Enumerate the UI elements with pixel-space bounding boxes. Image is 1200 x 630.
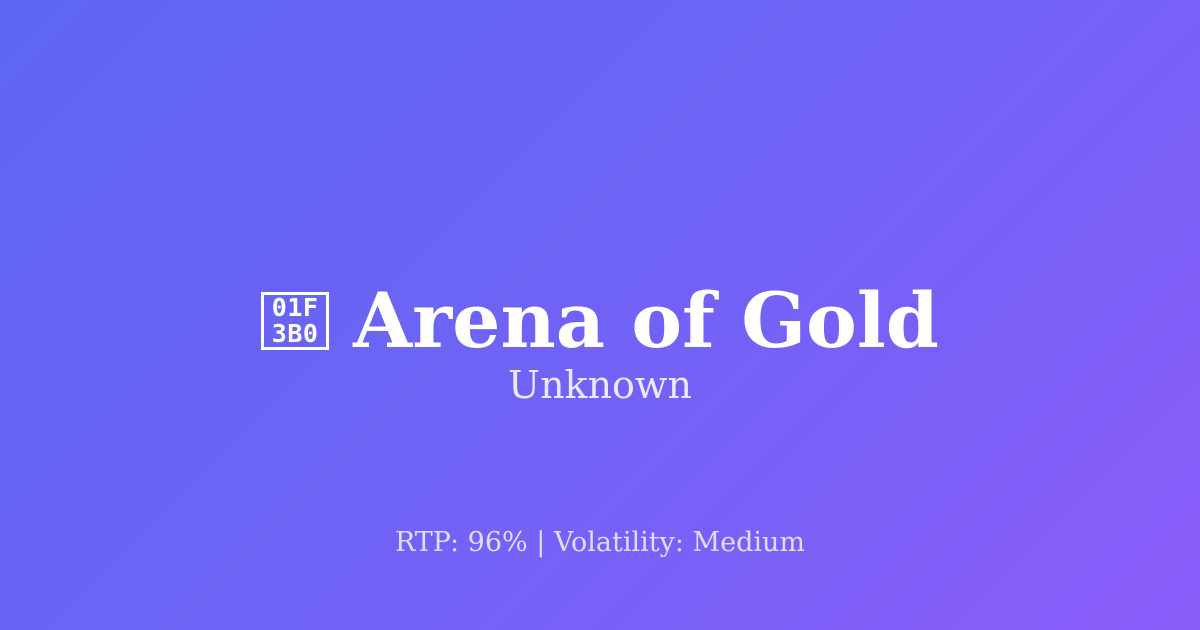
tofu-codepoint-high: 01F: [272, 295, 319, 321]
tofu-codepoint-low: 3B0: [272, 321, 319, 347]
game-provider-subtitle: Unknown: [0, 363, 1200, 409]
game-title: Arena of Gold: [353, 283, 939, 359]
game-og-card: 01F 3B0 Arena of Gold Unknown RTP: 96% |…: [0, 0, 1200, 630]
game-meta-line: RTP: 96% | Volatility: Medium: [0, 527, 1200, 559]
slot-machine-emoji-icon: 01F 3B0: [261, 292, 329, 350]
